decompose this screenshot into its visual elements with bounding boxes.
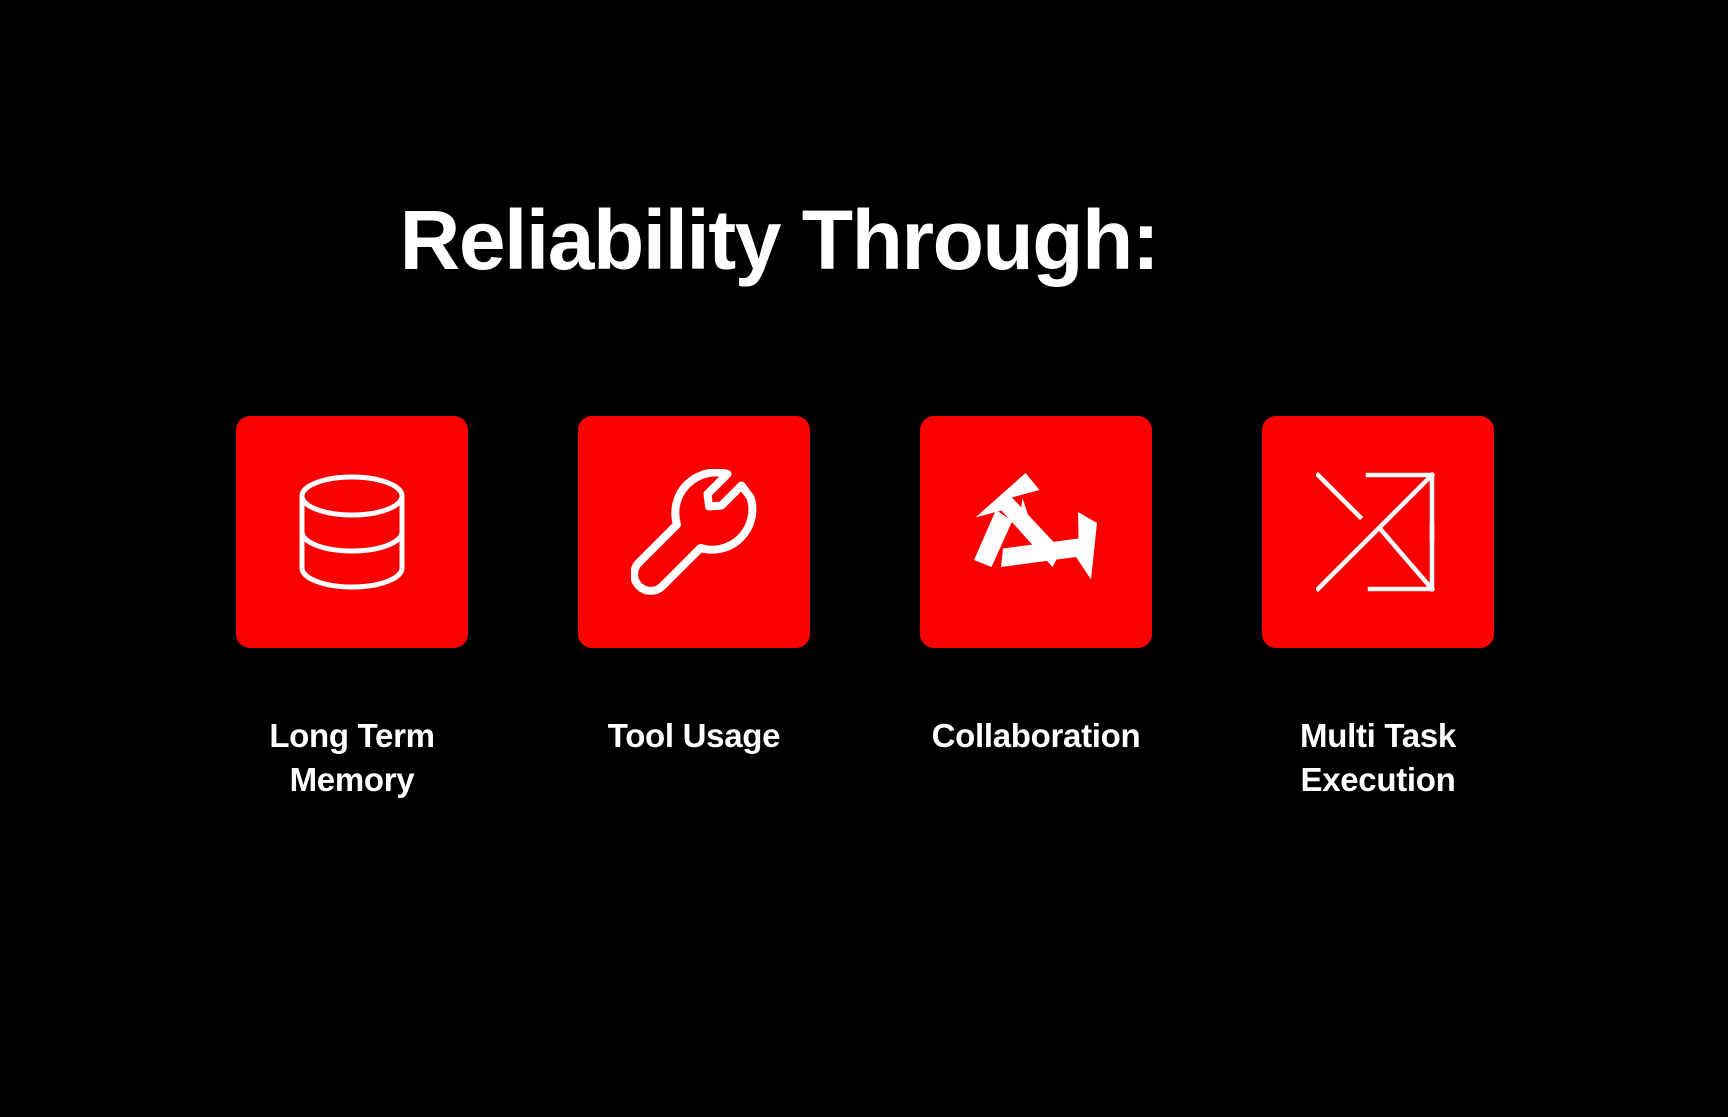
feature-card-label: Long Term Memory: [269, 714, 434, 802]
wrench-icon: [631, 469, 757, 595]
page-title: Reliability Through:: [0, 196, 1728, 284]
shuffle-arrows-icon: [1316, 471, 1440, 593]
feature-card-collaboration[interactable]: Collaboration: [920, 416, 1152, 758]
feature-card-tool-usage[interactable]: Tool Usage: [578, 416, 810, 758]
feature-card-label: Collaboration: [932, 714, 1141, 758]
feature-card-label: Multi Task Execution: [1300, 714, 1456, 802]
slide-canvas: Reliability Through: Long Term Memory: [0, 0, 1728, 1117]
feature-card-multi-task-execution[interactable]: Multi Task Execution: [1262, 416, 1494, 802]
icon-tile-multi-task-execution[interactable]: [1262, 416, 1494, 648]
icon-tile-long-term-memory[interactable]: [236, 416, 468, 648]
feature-card-long-term-memory[interactable]: Long Term Memory: [236, 416, 468, 802]
recycle-arrows-icon: [973, 471, 1099, 593]
icon-tile-tool-usage[interactable]: [578, 416, 810, 648]
icon-tile-collaboration[interactable]: [920, 416, 1152, 648]
database-icon: [294, 472, 410, 592]
feature-card-row: Long Term Memory Tool Usage: [0, 416, 1728, 802]
feature-card-label: Tool Usage: [608, 714, 780, 758]
